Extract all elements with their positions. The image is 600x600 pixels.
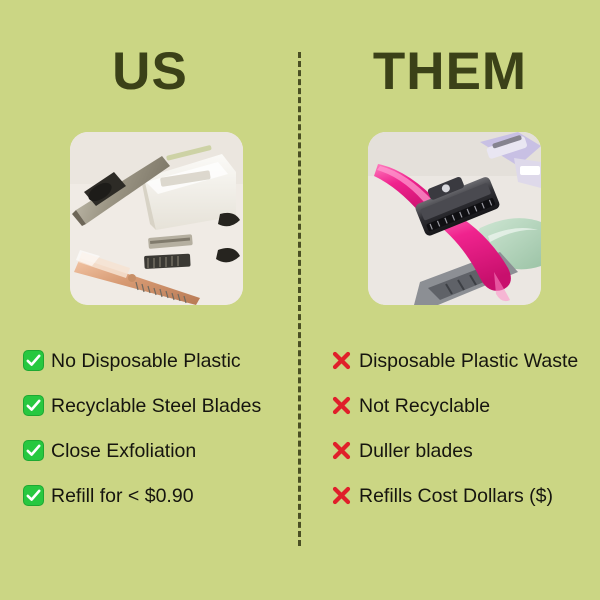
feature-item: Close Exfoliation: [0, 428, 300, 473]
check-mark-icon: [22, 440, 44, 462]
feature-item: Refill for < $0.90: [0, 473, 300, 518]
comparison-infographic: US: [0, 0, 600, 600]
cross-mark-icon: [330, 395, 352, 417]
feature-label: Disposable Plastic Waste: [359, 350, 578, 372]
product-photo-them-image: [368, 132, 541, 305]
cross-mark-icon: [330, 350, 352, 372]
feature-label: Refill for < $0.90: [51, 485, 194, 507]
feature-label: Refills Cost Dollars ($): [359, 485, 553, 507]
feature-item: Recyclable Steel Blades: [0, 383, 300, 428]
feature-label: No Disposable Plastic: [51, 350, 241, 372]
feature-item: Not Recyclable: [308, 383, 600, 428]
product-photo-them: [368, 132, 541, 305]
comparison-column-us: US: [0, 0, 300, 600]
cross-mark-icon: [330, 485, 352, 507]
column-heading-us: US: [0, 44, 300, 100]
feature-label: Close Exfoliation: [51, 440, 196, 462]
feature-item: Disposable Plastic Waste: [308, 338, 600, 383]
column-heading-them: THEM: [300, 44, 600, 100]
feature-label: Recyclable Steel Blades: [51, 395, 261, 417]
feature-item: No Disposable Plastic: [0, 338, 300, 383]
feature-label: Not Recyclable: [359, 395, 490, 417]
check-mark-icon: [22, 485, 44, 507]
product-photo-us-image: [70, 132, 243, 305]
product-photo-us: [70, 132, 243, 305]
check-mark-icon: [22, 350, 44, 372]
comparison-column-them: THEM: [300, 0, 600, 600]
check-mark-icon: [22, 395, 44, 417]
cross-mark-icon: [330, 440, 352, 462]
feature-item: Refills Cost Dollars ($): [308, 473, 600, 518]
feature-item: Duller blades: [308, 428, 600, 473]
feature-label: Duller blades: [359, 440, 473, 462]
feature-list-them: Disposable Plastic Waste Not Recyclable …: [308, 338, 600, 518]
feature-list-us: No Disposable Plastic Recyclable Steel B…: [0, 338, 300, 518]
